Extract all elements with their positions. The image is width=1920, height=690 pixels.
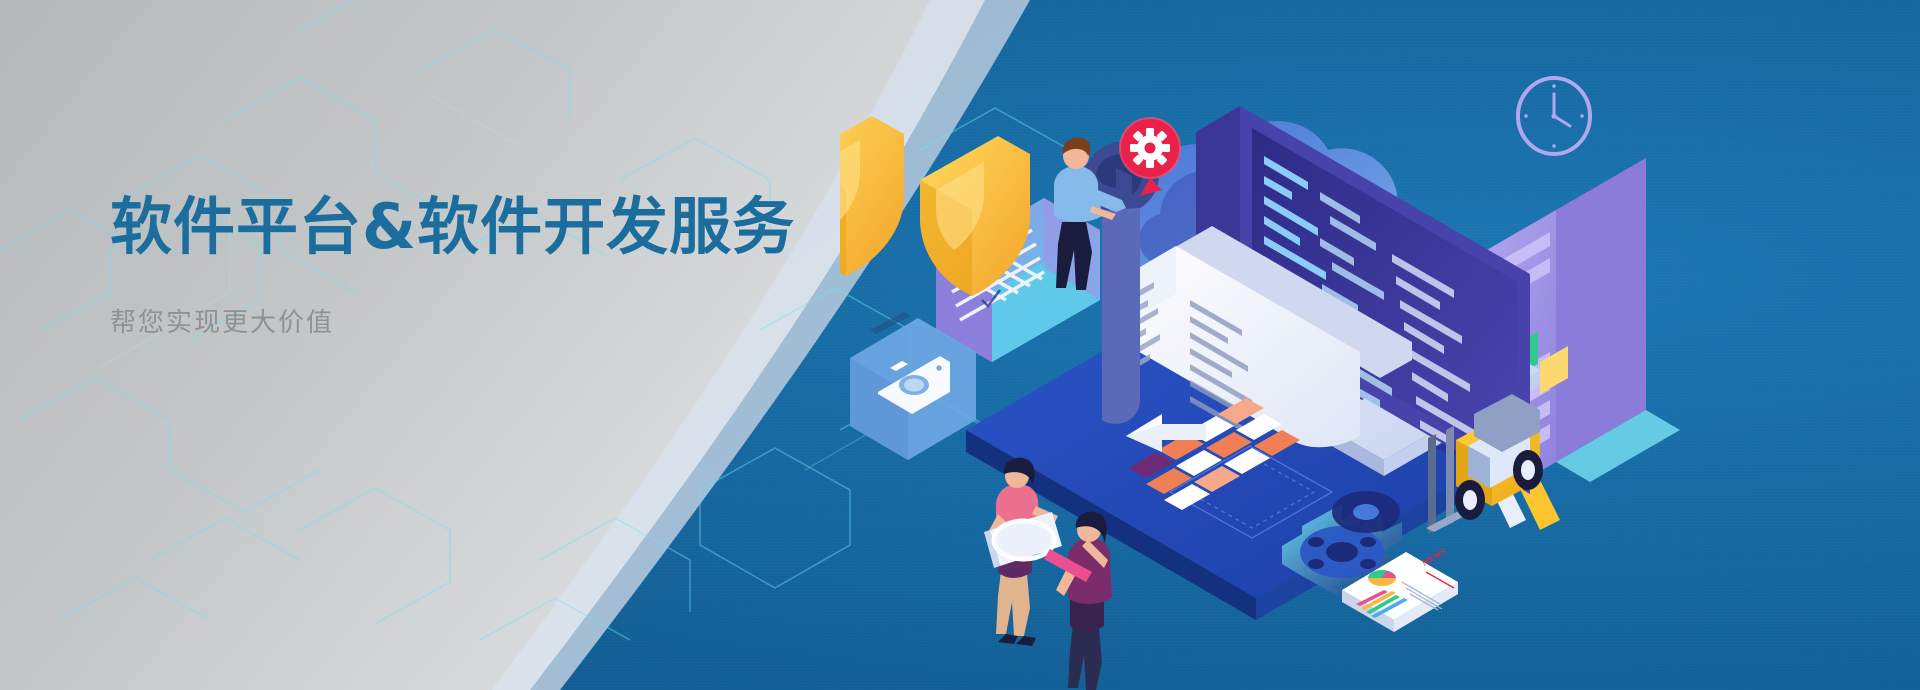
page-subtitle: 帮您实现更大价值 [110, 310, 870, 336]
isometric-illustration: NEWS [840, 0, 1920, 690]
headline-block: 软件平台&软件开发服务 帮您实现更大价值 [110, 196, 870, 336]
page-title: 软件平台&软件开发服务 [110, 196, 870, 258]
person-inspector [1056, 512, 1112, 690]
svg-text:NEWS: NEWS [1420, 546, 1448, 568]
hero-banner: NEWS [0, 0, 1920, 690]
clock-icon [1518, 78, 1590, 154]
news-label: NEWS [1420, 546, 1448, 568]
